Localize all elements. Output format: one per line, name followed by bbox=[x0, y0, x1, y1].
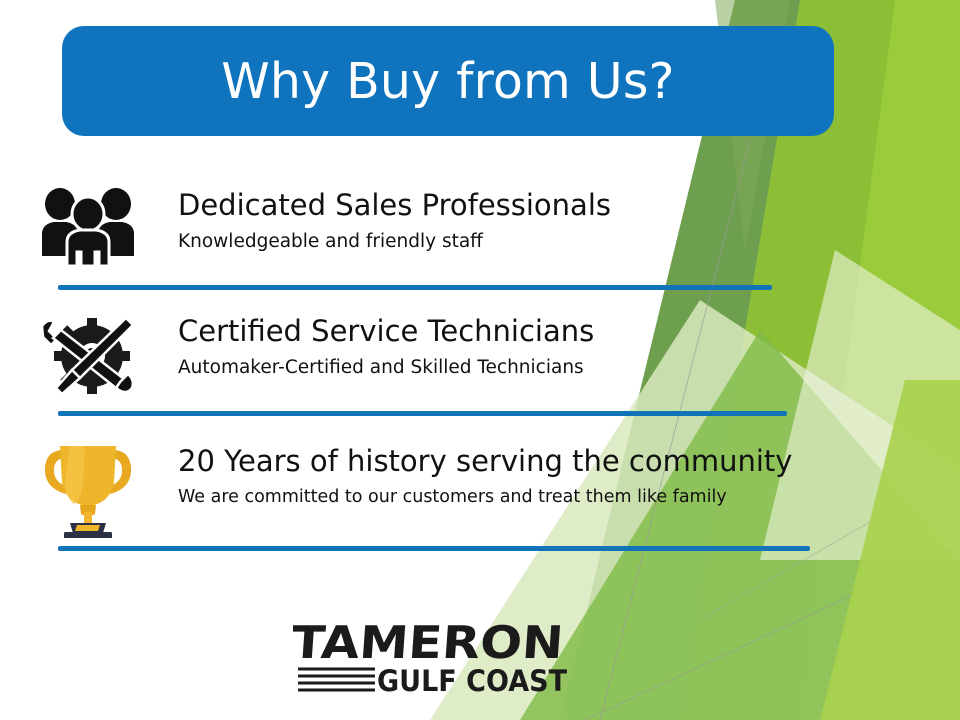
feature-title: Dedicated Sales Professionals bbox=[178, 190, 878, 220]
page-title: Why Buy from Us? bbox=[221, 57, 675, 106]
feature-title: 20 Years of history serving the communit… bbox=[178, 446, 878, 476]
logo-primary-text: TAMERON bbox=[293, 620, 565, 669]
trophy-icon bbox=[40, 438, 136, 542]
section-divider bbox=[58, 411, 787, 416]
feature-title: Certified Service Technicians bbox=[178, 316, 878, 346]
tameron-gulf-coast-logo: TAMERON GULF COAST bbox=[293, 620, 573, 698]
feature-text-block: Certified Service Technicians Automaker-… bbox=[178, 316, 878, 379]
feature-text-block: Dedicated Sales Professionals Knowledgea… bbox=[178, 190, 878, 253]
title-banner: Why Buy from Us? bbox=[62, 26, 834, 136]
three-people-icon bbox=[40, 186, 136, 270]
logo-secondary-text: GULF COAST bbox=[377, 664, 567, 698]
logo-stripes bbox=[298, 669, 375, 690]
feature-text-block: 20 Years of history serving the communit… bbox=[178, 446, 878, 508]
section-divider bbox=[58, 285, 772, 290]
gear-wrench-screwdriver-icon bbox=[40, 312, 136, 402]
feature-subtitle: We are committed to our customers and tr… bbox=[178, 488, 878, 507]
presentation-slide: Why Buy from Us? Dedicated Sales Profess… bbox=[0, 0, 960, 720]
feature-subtitle: Automaker-Certified and Skilled Technici… bbox=[178, 358, 878, 378]
feature-subtitle: Knowledgeable and friendly staff bbox=[178, 232, 878, 252]
section-divider bbox=[58, 546, 810, 551]
